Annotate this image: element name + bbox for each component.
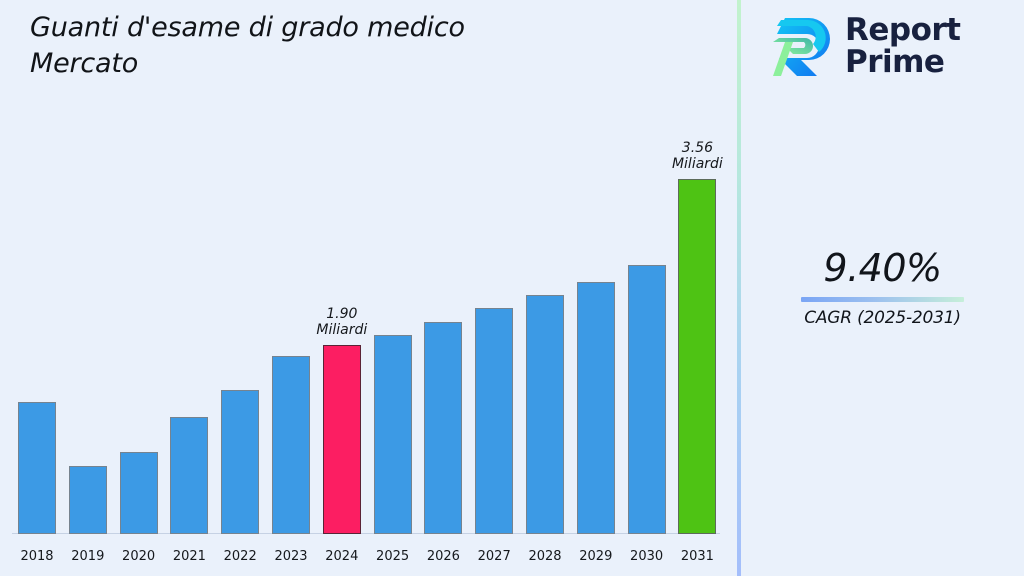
- cagr-value: 9.40%: [741, 248, 1024, 290]
- bar-group-2026: 2026: [424, 42, 462, 534]
- bar-2031[interactable]: [678, 179, 716, 534]
- bar-2020[interactable]: [120, 452, 158, 534]
- bar-2021[interactable]: [170, 417, 208, 534]
- bar-group-2018: 2018: [18, 42, 56, 534]
- bar-group-2029: 2029: [577, 42, 615, 534]
- bar-2024[interactable]: [323, 345, 361, 534]
- bar-group-2021: 2021: [170, 42, 208, 534]
- x-axis-label-2031: 2031: [681, 549, 714, 564]
- bar-value-label-2024: 1.90Miliardi: [316, 306, 367, 339]
- cagr-label: CAGR (2025-2031): [741, 308, 1024, 328]
- bar-2027[interactable]: [475, 308, 513, 534]
- brand-name-line1: Report: [845, 15, 961, 47]
- x-axis-label-2029: 2029: [579, 549, 612, 564]
- brand-logo: Report Prime: [771, 14, 961, 80]
- x-axis-label-2030: 2030: [630, 549, 663, 564]
- chart-page: Guanti d'esame di grado medico Mercato 2…: [0, 0, 1024, 576]
- cagr-divider: [801, 297, 964, 302]
- bar-2029[interactable]: [577, 282, 615, 534]
- bar-2028[interactable]: [526, 295, 564, 534]
- bar-2025[interactable]: [374, 335, 412, 534]
- brand-name: Report Prime: [845, 15, 961, 78]
- brand-name-line2: Prime: [845, 47, 961, 79]
- bar-group-2027: 2027: [475, 42, 513, 534]
- bar-value-number-2031: 3.56: [672, 140, 723, 157]
- x-axis-label-2018: 2018: [20, 549, 53, 564]
- bar-value-unit-2031: Miliardi: [672, 156, 723, 173]
- bar-value-number-2024: 1.90: [316, 306, 367, 323]
- chart-panel: Guanti d'esame di grado medico Mercato 2…: [0, 0, 737, 576]
- x-axis-label-2027: 2027: [478, 549, 511, 564]
- bar-2030[interactable]: [628, 265, 666, 534]
- x-axis-label-2022: 2022: [224, 549, 257, 564]
- x-axis-label-2019: 2019: [71, 549, 104, 564]
- bar-group-2030: 2030: [628, 42, 666, 534]
- bar-group-2031: 3.56Miliardi2031: [678, 42, 716, 534]
- bar-chart-plot: 2018201920202021202220231.90Miliardi2024…: [0, 0, 737, 576]
- cagr-block: 9.40% CAGR (2025-2031): [741, 248, 1024, 328]
- x-axis-label-2023: 2023: [274, 549, 307, 564]
- bar-2023[interactable]: [272, 356, 310, 534]
- bar-group-2024: 1.90Miliardi2024: [323, 42, 361, 534]
- bar-group-2020: 2020: [120, 42, 158, 534]
- bar-value-unit-2024: Miliardi: [316, 322, 367, 339]
- bar-2026[interactable]: [424, 322, 462, 534]
- bar-value-label-2031: 3.56Miliardi: [672, 140, 723, 173]
- bar-2019[interactable]: [69, 466, 107, 534]
- x-axis-label-2021: 2021: [173, 549, 206, 564]
- bar-2022[interactable]: [221, 390, 259, 534]
- x-axis-label-2025: 2025: [376, 549, 409, 564]
- bar-group-2025: 2025: [374, 42, 412, 534]
- brand-panel: Report Prime 9.40% CAGR (2025-2031): [741, 0, 1024, 576]
- x-axis-label-2024: 2024: [325, 549, 358, 564]
- report-prime-r-logo-icon: [771, 14, 835, 80]
- bar-2018[interactable]: [18, 402, 56, 534]
- x-axis-label-2020: 2020: [122, 549, 155, 564]
- x-axis-label-2028: 2028: [528, 549, 561, 564]
- bar-group-2023: 2023: [272, 42, 310, 534]
- bar-group-2028: 2028: [526, 42, 564, 534]
- x-axis-label-2026: 2026: [427, 549, 460, 564]
- bar-group-2019: 2019: [69, 42, 107, 534]
- bar-group-2022: 2022: [221, 42, 259, 534]
